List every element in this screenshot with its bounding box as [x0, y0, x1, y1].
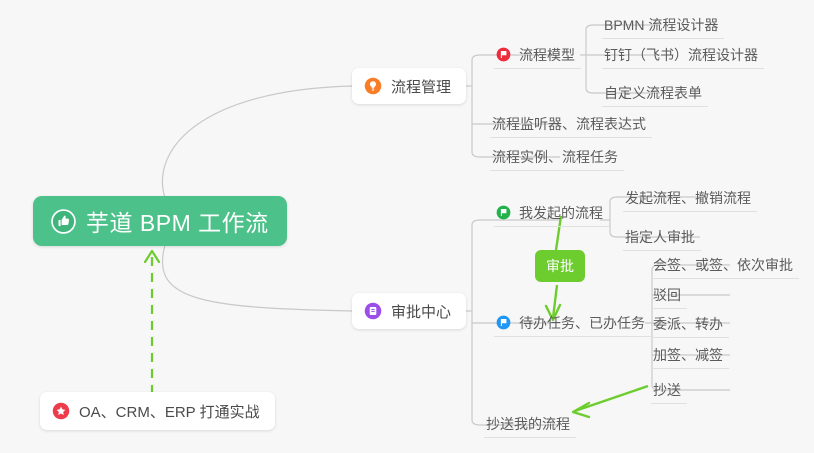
- node-listener-expression[interactable]: 流程监听器、流程表达式: [490, 110, 652, 138]
- node-countersign[interactable]: 会签、或签、依次审批: [651, 251, 799, 279]
- thumbs-up-icon: [51, 209, 76, 234]
- branch-label: 流程管理: [391, 76, 451, 97]
- node-process-model[interactable]: 流程模型: [494, 41, 581, 69]
- node-cc-to-me[interactable]: 抄送我的流程: [484, 410, 576, 438]
- node-dingtalk-feishu-designer[interactable]: 钉钉（飞书）流程设计器: [602, 41, 764, 69]
- node-instance-task[interactable]: 流程实例、流程任务: [490, 143, 624, 171]
- mindmap-canvas: 芋道 BPM 工作流 OA、CRM、ERP 打通实战 流程管理: [0, 0, 814, 453]
- node-assignee-approval[interactable]: 指定人审批: [623, 223, 701, 251]
- node-todo-done-tasks[interactable]: 待办任务、已办任务: [494, 309, 651, 337]
- node-label: 流程模型: [519, 45, 575, 65]
- root-node[interactable]: 芋道 BPM 工作流: [33, 196, 287, 246]
- clipboard-icon: [364, 302, 382, 320]
- flag-icon: [496, 47, 511, 62]
- flag-icon: [496, 315, 511, 330]
- cc-link-arrow: [573, 386, 648, 417]
- annotation-arrow: [145, 251, 159, 394]
- root-label: 芋道 BPM 工作流: [86, 204, 269, 238]
- approval-tag[interactable]: 审批: [535, 250, 585, 282]
- branch-label: 审批中心: [391, 301, 451, 322]
- wire-root-to-process-management: [162, 86, 352, 198]
- lightbulb-pin-icon: [364, 77, 382, 95]
- node-bpmn-designer[interactable]: BPMN 流程设计器: [602, 11, 724, 39]
- node-my-started-process[interactable]: 我发起的流程: [494, 199, 609, 227]
- star-icon: [52, 402, 70, 420]
- branch-process-management[interactable]: 流程管理: [352, 68, 466, 104]
- node-carbon-copy[interactable]: 抄送: [651, 376, 687, 404]
- flag-icon: [496, 205, 511, 220]
- node-delegate-transfer[interactable]: 委派、转办: [651, 310, 729, 338]
- node-add-remove-sign[interactable]: 加签、减签: [651, 341, 729, 369]
- annotation-node[interactable]: OA、CRM、ERP 打通实战: [40, 392, 275, 430]
- approval-tag-label: 审批: [546, 256, 574, 276]
- node-reject[interactable]: 驳回: [651, 281, 687, 309]
- node-start-cancel-process[interactable]: 发起流程、撤销流程: [623, 184, 757, 212]
- wire-root-to-approval-center: [162, 245, 352, 311]
- annotation-label: OA、CRM、ERP 打通实战: [79, 401, 260, 422]
- node-custom-process-form[interactable]: 自定义流程表单: [602, 79, 708, 107]
- branch-approval-center[interactable]: 审批中心: [352, 293, 466, 329]
